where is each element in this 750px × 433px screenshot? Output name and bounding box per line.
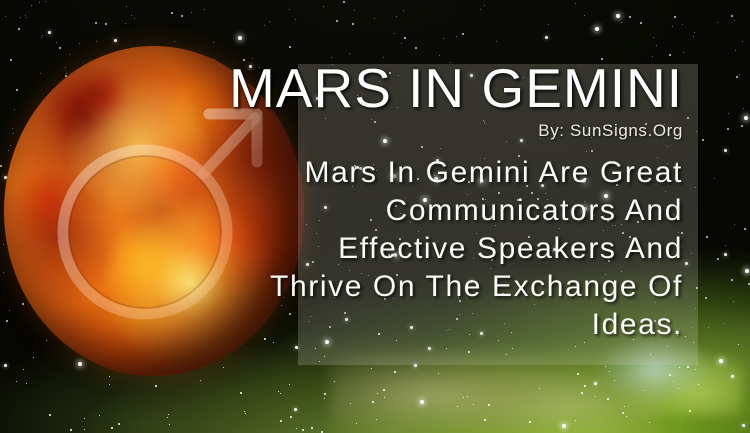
star	[742, 41, 743, 42]
star	[733, 301, 734, 302]
star	[748, 283, 750, 285]
star	[702, 139, 704, 141]
banner-body-text: Mars In Gemini Are GreatCommunicators An…	[200, 154, 683, 344]
star	[169, 424, 170, 425]
star	[562, 424, 566, 428]
star	[18, 28, 20, 30]
star	[741, 125, 743, 127]
star	[682, 24, 683, 25]
star	[289, 9, 290, 10]
star	[457, 406, 458, 407]
star	[656, 45, 657, 46]
star	[473, 404, 474, 405]
star	[334, 381, 335, 382]
star	[16, 381, 17, 382]
star	[717, 22, 718, 23]
star	[545, 36, 548, 39]
star	[584, 385, 586, 387]
star	[644, 390, 645, 391]
star	[401, 43, 402, 44]
star	[167, 417, 168, 418]
star	[734, 20, 735, 21]
star	[744, 228, 746, 230]
star	[302, 429, 304, 431]
star	[674, 16, 676, 18]
star	[653, 37, 654, 38]
star	[118, 423, 120, 425]
star	[679, 367, 680, 368]
star	[708, 327, 709, 328]
star	[25, 15, 26, 16]
star	[238, 36, 242, 40]
star	[42, 35, 43, 36]
star	[20, 17, 21, 18]
star	[595, 396, 596, 397]
star	[629, 16, 631, 18]
star	[324, 393, 326, 395]
banner-body-line: Thrive On The Exchange Of	[200, 268, 683, 306]
star	[624, 406, 625, 407]
banner-body-line: Mars In Gemini Are Great	[200, 154, 683, 192]
star	[439, 55, 440, 56]
star	[731, 375, 734, 378]
star	[736, 76, 738, 78]
star	[742, 424, 745, 427]
star	[295, 19, 296, 20]
star	[244, 411, 245, 412]
star	[26, 17, 27, 18]
star	[39, 2, 40, 3]
star	[79, 43, 80, 44]
star	[84, 429, 85, 430]
star	[26, 383, 27, 384]
star	[49, 414, 51, 416]
star	[539, 388, 540, 389]
star	[484, 419, 486, 421]
star	[200, 380, 201, 381]
star	[245, 413, 246, 414]
star	[488, 404, 490, 406]
star	[155, 385, 157, 387]
star	[678, 388, 679, 389]
star	[577, 373, 579, 375]
byline-credit: By: SunSigns.Org	[200, 121, 683, 141]
star	[734, 224, 735, 225]
star	[669, 54, 671, 56]
star	[649, 422, 650, 423]
star	[356, 423, 357, 424]
star	[484, 5, 485, 6]
star	[438, 373, 439, 374]
star	[181, 15, 183, 17]
star	[371, 368, 372, 369]
star	[191, 12, 192, 13]
star	[745, 269, 749, 273]
star	[168, 414, 169, 415]
star	[376, 419, 377, 420]
star	[725, 245, 726, 246]
star	[384, 397, 385, 398]
star	[673, 381, 674, 382]
star	[323, 6, 324, 7]
star	[311, 427, 313, 429]
star	[609, 371, 610, 372]
star	[731, 15, 733, 17]
star	[467, 396, 468, 397]
star	[705, 297, 707, 299]
star	[727, 128, 729, 130]
star	[443, 38, 444, 39]
star	[614, 380, 615, 381]
banner-body-line: Effective Speakers And	[200, 230, 683, 268]
star	[171, 12, 173, 14]
star	[689, 410, 691, 412]
star	[280, 393, 281, 394]
star	[278, 391, 279, 392]
star	[45, 1, 46, 2]
star	[213, 42, 214, 43]
star	[694, 32, 695, 33]
star	[683, 52, 684, 53]
star	[105, 23, 107, 25]
star	[109, 384, 110, 385]
star	[548, 24, 549, 25]
star	[95, 22, 97, 24]
star	[595, 27, 599, 31]
star	[5, 16, 6, 17]
star	[294, 408, 297, 411]
star	[324, 398, 325, 399]
star	[717, 258, 719, 260]
star	[269, 21, 270, 22]
star	[383, 389, 385, 391]
star	[280, 420, 282, 422]
star	[607, 398, 609, 400]
star	[31, 5, 32, 6]
star	[584, 15, 585, 16]
star	[41, 37, 42, 38]
star	[204, 9, 205, 10]
star	[738, 344, 739, 345]
star	[735, 50, 736, 51]
star	[350, 403, 351, 404]
banner-body-line: Ideas.	[200, 306, 683, 344]
star	[698, 384, 699, 385]
star	[131, 15, 132, 16]
star	[621, 22, 622, 23]
star	[48, 31, 51, 34]
star	[415, 47, 417, 49]
star	[463, 397, 464, 398]
star	[420, 400, 424, 404]
star	[616, 14, 620, 18]
star	[56, 42, 57, 43]
star	[240, 392, 242, 394]
star	[125, 23, 126, 24]
star	[290, 416, 292, 418]
star	[456, 36, 457, 37]
star	[714, 178, 715, 179]
star	[575, 420, 576, 421]
astrology-banner-image: MARS IN GEMINI By: SunSigns.Org Mars In …	[0, 0, 750, 433]
star	[640, 22, 642, 24]
star	[622, 412, 624, 414]
star	[723, 323, 724, 324]
star	[264, 25, 265, 26]
star	[744, 116, 748, 120]
star	[404, 37, 406, 39]
star	[372, 401, 374, 403]
star	[496, 41, 497, 42]
star	[349, 53, 350, 54]
star	[394, 33, 395, 34]
star	[114, 39, 117, 42]
star	[377, 393, 378, 394]
star	[134, 18, 135, 19]
star	[672, 26, 673, 27]
star	[84, 418, 85, 419]
page-title: MARS IN GEMINI	[200, 60, 683, 116]
star	[109, 376, 110, 377]
star	[99, 415, 100, 416]
star	[731, 279, 733, 281]
star	[354, 10, 355, 11]
star	[126, 6, 127, 7]
star	[374, 18, 375, 19]
banner-body-line: Communicators And	[200, 192, 683, 230]
star	[336, 20, 338, 22]
star	[296, 428, 297, 429]
star	[743, 108, 744, 109]
star	[725, 254, 727, 256]
star	[529, 421, 531, 423]
star	[724, 149, 727, 152]
star	[352, 23, 354, 25]
star	[695, 369, 696, 370]
star	[70, 429, 72, 431]
star	[719, 359, 723, 363]
star	[706, 236, 708, 238]
star	[396, 16, 397, 17]
star	[575, 3, 576, 4]
star	[289, 384, 290, 385]
star	[111, 427, 113, 429]
star	[687, 366, 689, 368]
star	[581, 392, 583, 394]
star	[0, 165, 2, 167]
star	[96, 41, 97, 42]
star	[626, 416, 627, 417]
star	[669, 374, 671, 376]
star	[693, 36, 694, 37]
star	[174, 41, 175, 42]
star	[480, 9, 481, 10]
star	[605, 366, 606, 367]
star	[462, 33, 464, 35]
star	[403, 10, 404, 11]
star	[394, 371, 396, 373]
star	[594, 382, 597, 385]
star	[739, 74, 740, 75]
banner-text-block: MARS IN GEMINI By: SunSigns.Org Mars In …	[200, 60, 683, 344]
star	[343, 1, 345, 3]
star	[728, 113, 729, 114]
